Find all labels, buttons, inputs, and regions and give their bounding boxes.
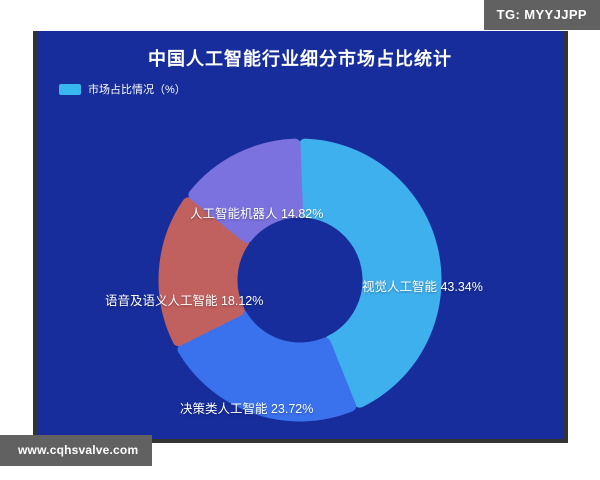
donut-chart: 视觉人工智能 43.34% 决策类人工智能 23.72% 语音及语义人工智能 1… [37,31,563,439]
chart-panel: 中国人工智能行业细分市场占比统计 市场占比情况（%） 视觉人工智能 43.34%… [37,31,563,439]
page-root: 中国人工智能行业细分市场占比统计 市场占比情况（%） 视觉人工智能 43.34%… [0,0,600,480]
telegram-watermark-badge: TG: MYYJJPP [484,0,600,30]
site-watermark-badge: www.cqhsvalve.com [0,435,152,466]
donut-chart-svg [37,31,563,439]
